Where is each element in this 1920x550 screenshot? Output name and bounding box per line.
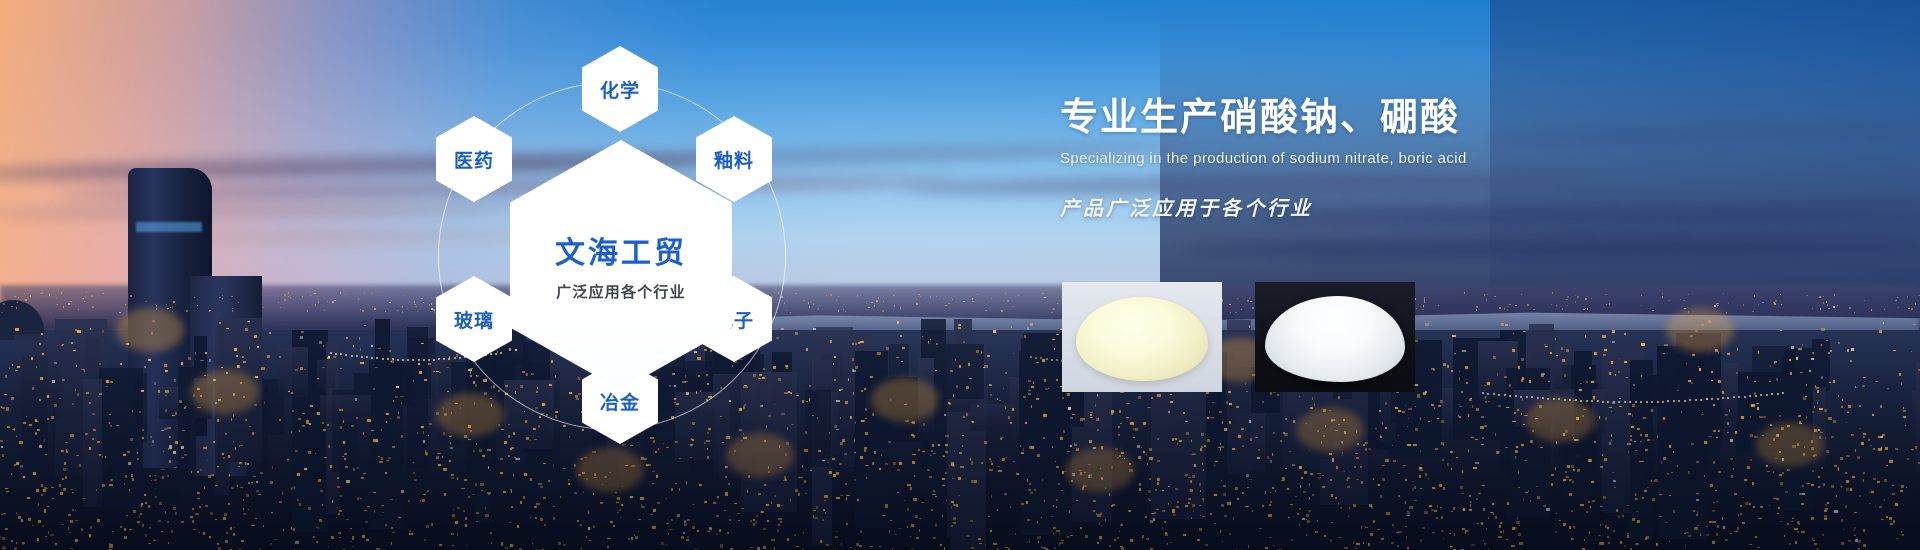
headline-chinese: 专业生产硝酸钠、硼酸 <box>1060 95 1760 140</box>
company-tagline: 广泛应用各个行业 <box>556 281 686 302</box>
headline-english: Specializing in the production of sodium… <box>1060 150 1760 167</box>
powder-pile <box>1076 297 1208 381</box>
product-photo-sodium-nitrate[interactable] <box>1062 282 1222 392</box>
promotional-banner: 化学 釉料 电子 冶金 玻璃 医药 文海工贸 广泛应用各个行业 专业生产硝酸钠、… <box>0 0 1920 550</box>
hex-node-label: 釉料 <box>714 146 754 173</box>
product-photo-boric-acid[interactable] <box>1255 282 1415 392</box>
company-name: 文海工贸 <box>555 228 687 272</box>
hex-node-label: 玻璃 <box>454 306 494 333</box>
hex-node-label: 冶金 <box>600 388 640 415</box>
headline-block: 专业生产硝酸钠、硼酸 Specializing in the productio… <box>1060 95 1760 221</box>
cityscape-background <box>0 0 1920 550</box>
hex-node-label: 医药 <box>454 146 494 173</box>
vignette-overlay <box>0 0 1920 550</box>
tagline-chinese: 产品广泛应用于各个行业 <box>1060 192 1760 221</box>
hex-node-label: 化学 <box>600 76 640 103</box>
product-photo-group <box>1062 282 1415 392</box>
industry-hexagon-diagram: 化学 釉料 电子 冶金 玻璃 医药 文海工贸 广泛应用各个行业 <box>430 20 810 520</box>
powder-pile <box>1265 296 1405 382</box>
